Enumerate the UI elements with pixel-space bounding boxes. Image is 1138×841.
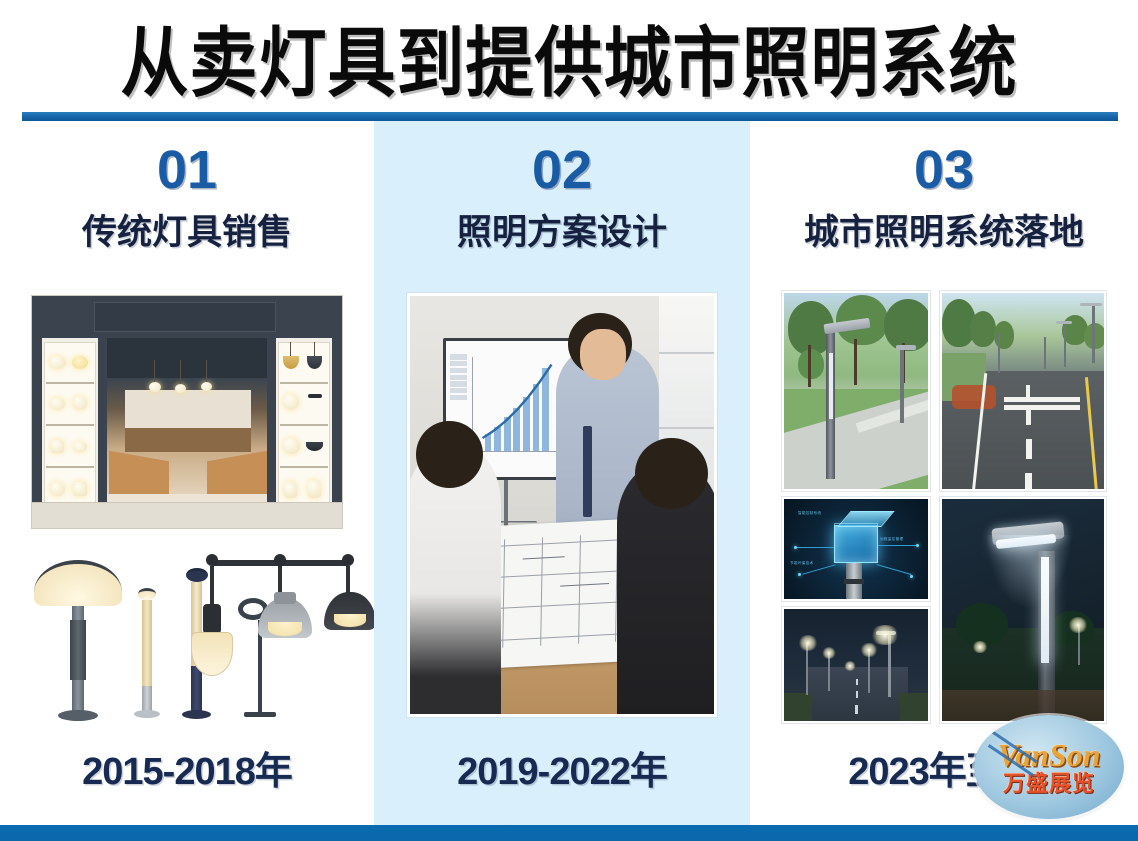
stage-number-3: 03 [750, 143, 1138, 197]
tech-label-bottom-left: 节能环保技术 [790, 561, 813, 566]
led-street-lamp-photo [940, 497, 1106, 723]
stage-number-2: 02 [374, 143, 750, 197]
lamp-products-illustration [24, 546, 350, 736]
stage-subtitle-1: 传统灯具销售 [0, 215, 374, 250]
park-pathway-light-photo [782, 291, 930, 491]
city-lighting-collage: 智能控制系统 远程监控管理 节能环保技术 [772, 291, 1116, 723]
watermark-logo: VanSon 万盛展览 [974, 715, 1124, 819]
city-road-daytime-photo [940, 291, 1106, 491]
lighting-store-illustration [31, 295, 343, 529]
footer-bar [0, 825, 1138, 841]
header-divider-rule [22, 112, 1118, 121]
tech-label-top-left: 智能控制系统 [798, 511, 821, 516]
night-road-photo [782, 607, 930, 723]
stage-column-1[interactable]: 01 传统灯具销售 [0, 121, 374, 825]
stage-date-1: 2015-2018年 [0, 740, 374, 795]
watermark-chinese: 万盛展览 [1003, 773, 1095, 795]
stage-subtitle-3: 城市照明系统落地 [750, 215, 1138, 250]
stage-date-2: 2019-2022年 [374, 740, 750, 795]
page-title: 从卖灯具到提供城市照明系统 [120, 1, 1017, 112]
smart-lighting-tech-photo: 智能控制系统 远程监控管理 节能环保技术 [782, 497, 930, 601]
stage-number-1: 01 [0, 143, 374, 197]
slide-header: 从卖灯具到提供城市照明系统 [0, 0, 1138, 112]
design-meeting-photo [407, 293, 717, 717]
stage-column-2[interactable]: 02 照明方案设计 [374, 121, 750, 825]
tech-label-right: 远程监控管理 [880, 537, 903, 542]
stage-subtitle-2: 照明方案设计 [374, 215, 750, 250]
slide-page: 从卖灯具到提供城市照明系统 01 传统灯具销售 [0, 0, 1138, 841]
timeline-columns: 01 传统灯具销售 [0, 121, 1138, 825]
